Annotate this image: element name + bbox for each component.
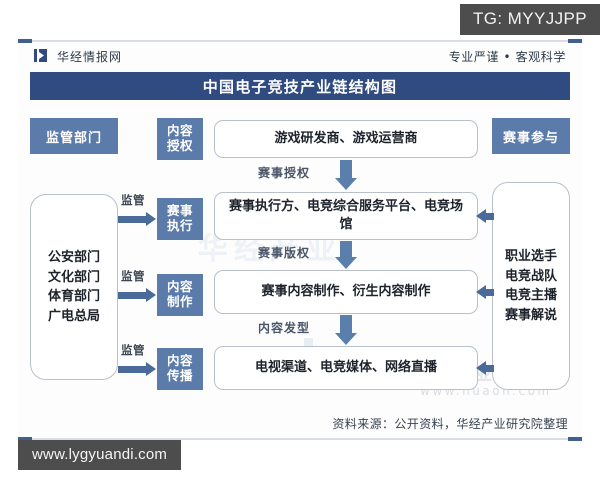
stage-label-content-production: 内容 制作: [157, 274, 203, 316]
stage-label-line1: 内容: [167, 123, 193, 138]
flow-arrow-down-3: [335, 315, 357, 345]
participate-arrow-1: [476, 209, 494, 224]
infographic-card: 华经情报网 专业严谨 • 客观科学 中国电子竞技产业链结构图 华经产业 华经产业…: [18, 40, 582, 440]
stage-label-event-execution: 赛事 执行: [157, 198, 203, 240]
brand-name: 华经情报网: [57, 48, 122, 65]
regulator-agencies-box: 公安部门 文化部门 体育部门 广电总局: [30, 194, 118, 380]
stage-label-line2: 传播: [167, 368, 193, 383]
source-note: 资料来源：公开资料，华经产业研究院整理: [332, 415, 568, 432]
stage-label-line1: 赛事: [167, 203, 193, 218]
huajing-logo-icon: [34, 47, 50, 66]
participate-arrow-2: [476, 285, 494, 300]
flow-arrow-down-1: [335, 160, 357, 190]
chart-title-bar: 中国电子竞技产业链结构图: [30, 72, 570, 100]
stage-box-content-production: 赛事内容制作、衍生内容制作: [214, 270, 478, 314]
stage-box-distribution-channels: 电视渠道、电竞媒体、网络直播: [214, 346, 478, 390]
supervise-arrow-1: [118, 212, 156, 227]
stage-box-event-operators: 赛事执行方、电竞综合服务平台、电竞场馆: [214, 192, 478, 240]
site-url-watermark: www.lygyuandi.com: [18, 440, 181, 470]
brand-tagline: 专业严谨 • 客观科学: [449, 48, 566, 65]
stage-label-line1: 内容: [167, 279, 193, 294]
participant-column-header: 赛事参与: [492, 118, 570, 154]
page-title: 中国电子竞技产业链结构图: [203, 76, 397, 97]
flow-label-event-copyright: 赛事版权: [258, 244, 310, 261]
stage-label-line2: 执行: [167, 218, 193, 233]
participant-roles-box: 职业选手 电竞战队 电竞主播 赛事解说: [492, 182, 570, 390]
stage-label-content-distribution: 内容 传播: [157, 348, 203, 390]
stage-label-line2: 授权: [167, 138, 193, 153]
flow-label-content-release: 内容发型: [258, 319, 310, 336]
regulator-column-header: 监管部门: [30, 118, 118, 154]
supervise-label-1: 监管: [121, 192, 145, 208]
participate-arrow-3: [476, 361, 494, 376]
screenshot-root: TG: MYYJJPP 华经情报网 专业严谨 • 客观科学 中国电子竞技产业链结…: [0, 0, 600, 480]
stage-label-line2: 制作: [167, 294, 193, 309]
brand-left-group: 华经情报网: [34, 47, 122, 66]
supervise-arrow-2: [118, 288, 156, 303]
supervise-label-3: 监管: [121, 342, 145, 358]
stage-box-game-developers: 游戏研发商、游戏运营商: [214, 120, 478, 158]
stage-label-line1: 内容: [167, 353, 193, 368]
stage-label-content-authorization: 内容 授权: [157, 118, 203, 160]
brand-row: 华经情报网 专业严谨 • 客观科学: [18, 42, 582, 70]
flow-arrow-down-2: [335, 241, 357, 269]
card-corner-tick-bottom-right: [568, 437, 582, 441]
telegram-watermark: TG: MYYJJPP: [460, 4, 600, 35]
supervise-label-2: 监管: [121, 268, 145, 284]
supervise-arrow-3: [118, 362, 156, 377]
flow-label-event-authorization: 赛事授权: [258, 164, 310, 181]
